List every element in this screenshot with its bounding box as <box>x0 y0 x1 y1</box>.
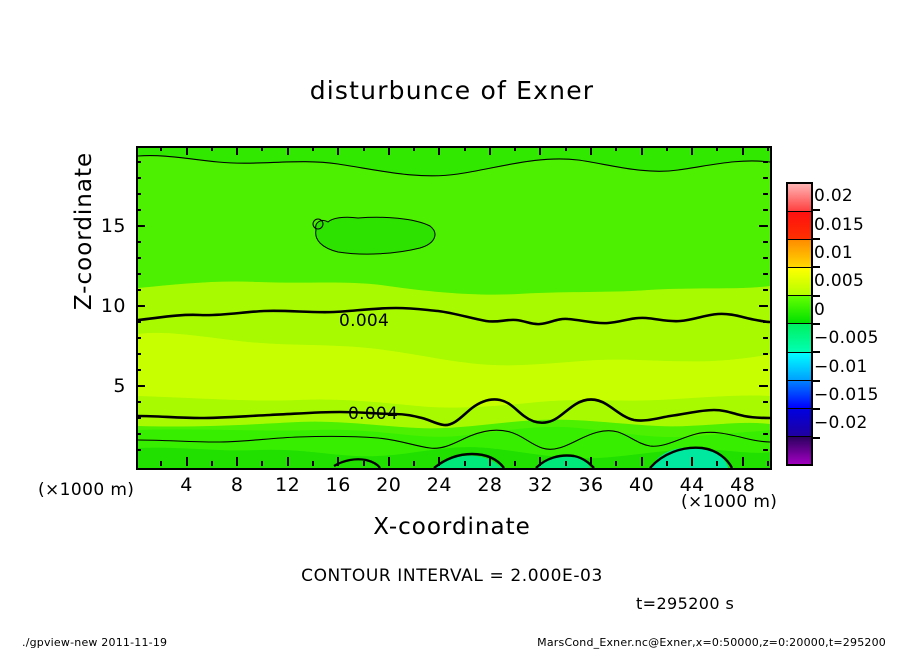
contour-label-upper: 0.004 <box>337 311 391 331</box>
colorbar-tick <box>813 437 820 439</box>
y-tick-minor <box>136 369 141 371</box>
x-tick-major-top <box>742 146 744 155</box>
y-tick-major <box>136 225 145 227</box>
y-tick-minor-right <box>763 273 768 275</box>
y-tick-minor <box>136 273 141 275</box>
y-tick-minor <box>136 433 141 435</box>
x-tick-label: 4 <box>180 474 193 496</box>
x-tick-major <box>691 457 693 466</box>
contour-field <box>138 148 770 468</box>
y-tick-minor-right <box>763 193 768 195</box>
colorbar-tick-label: 0.01 <box>814 243 853 263</box>
x-tick-minor-top <box>160 146 162 151</box>
colorbar-band <box>788 268 811 296</box>
x-tick-major <box>337 457 339 466</box>
colorbar-band <box>788 324 811 352</box>
colorbar-tick <box>813 380 820 382</box>
x-tick-major <box>236 457 238 466</box>
colorbar-tick <box>813 238 820 240</box>
x-tick-major-top <box>337 146 339 155</box>
colorbar-tick-label: 0.015 <box>814 215 864 235</box>
x-tick-minor <box>413 461 415 466</box>
y-tick-minor <box>136 449 141 451</box>
footer-source: MarsCond_Exner.nc@Exner,x=0:50000,z=0:20… <box>537 636 886 649</box>
y-tick-major-right <box>759 305 768 307</box>
x-tick-label: 20 <box>376 474 401 496</box>
y-tick-minor <box>136 337 141 339</box>
x-tick-minor <box>565 461 567 466</box>
x-tick-major <box>388 457 390 466</box>
contour-interval-note: CONTOUR INTERVAL = 2.000E-03 <box>0 566 904 586</box>
x-tick-minor <box>666 461 668 466</box>
x-tick-minor-top <box>261 146 263 151</box>
y-tick-major-right <box>759 225 768 227</box>
x-axis-title: X-coordinate <box>0 514 904 540</box>
colorbar-band <box>788 240 811 268</box>
footer-command: ./gpview-new 2011-11-19 <box>22 636 167 649</box>
x-tick-major <box>590 457 592 466</box>
x-axis-unit-right: (×1000 m) <box>681 492 777 512</box>
x-tick-minor <box>514 461 516 466</box>
x-tick-minor <box>312 461 314 466</box>
y-tick-minor-right <box>763 257 768 259</box>
x-tick-minor <box>211 461 213 466</box>
x-tick-major <box>641 457 643 466</box>
y-tick-minor-right <box>763 337 768 339</box>
x-tick-minor <box>615 461 617 466</box>
x-tick-minor <box>160 461 162 466</box>
x-tick-minor-top <box>767 146 769 151</box>
x-tick-minor-top <box>413 146 415 151</box>
x-tick-minor-top <box>363 146 365 151</box>
x-tick-major-top <box>641 146 643 155</box>
y-tick-minor-right <box>763 241 768 243</box>
x-tick-label: 12 <box>275 474 300 496</box>
y-tick-minor-right <box>763 417 768 419</box>
x-tick-label: 36 <box>578 474 603 496</box>
x-tick-major-top <box>590 146 592 155</box>
colorbar-tick <box>813 351 820 353</box>
x-tick-major <box>186 457 188 466</box>
colorbar-band <box>788 353 811 381</box>
colorbar-band <box>788 212 811 240</box>
colorbar-band <box>788 184 811 212</box>
colorbar-band <box>788 437 811 464</box>
colorbar-tick-label: 0.005 <box>814 271 864 291</box>
x-tick-minor <box>363 461 365 466</box>
y-axis-title: Z-coordinate <box>71 131 97 331</box>
y-tick-minor-right <box>763 177 768 179</box>
x-tick-label: 32 <box>528 474 553 496</box>
y-tick-label: 5 <box>74 375 126 397</box>
y-tick-minor-right <box>763 209 768 211</box>
y-tick-minor-right <box>763 401 768 403</box>
x-tick-label: 40 <box>629 474 654 496</box>
contour-label-lower: 0.004 <box>346 404 400 424</box>
x-tick-major-top <box>287 146 289 155</box>
x-tick-major-top <box>539 146 541 155</box>
contour-plot-area[interactable]: 0.004 0.004 <box>136 146 772 470</box>
x-tick-label: 28 <box>477 474 502 496</box>
x-tick-minor <box>261 461 263 466</box>
x-tick-minor <box>716 461 718 466</box>
x-tick-minor-top <box>211 146 213 151</box>
x-tick-major-top <box>186 146 188 155</box>
x-tick-major-top <box>388 146 390 155</box>
y-tick-minor <box>136 177 141 179</box>
x-tick-minor-top <box>312 146 314 151</box>
colorbar-tick-label: −0.01 <box>814 357 868 377</box>
y-tick-minor-right <box>763 449 768 451</box>
x-axis-unit-left: (×1000 m) <box>38 480 134 500</box>
x-tick-minor-top <box>716 146 718 151</box>
colorbar-band <box>788 381 811 409</box>
page-title: disturbunce of Exner <box>0 76 904 105</box>
colorbar-tick <box>813 408 820 410</box>
y-tick-minor <box>136 321 141 323</box>
y-tick-minor-right <box>763 321 768 323</box>
x-tick-label: 24 <box>427 474 452 496</box>
y-tick-minor-right <box>763 433 768 435</box>
y-tick-major <box>136 385 145 387</box>
y-tick-minor <box>136 257 141 259</box>
colorbar[interactable] <box>786 182 813 466</box>
colorbar-tick-label: −0.005 <box>814 328 879 348</box>
y-tick-minor <box>136 417 141 419</box>
y-tick-minor <box>136 353 141 355</box>
x-tick-minor <box>767 461 769 466</box>
x-tick-major-top <box>438 146 440 155</box>
y-tick-minor-right <box>763 289 768 291</box>
time-stamp: t=295200 s <box>636 594 734 613</box>
x-tick-minor <box>464 461 466 466</box>
x-tick-minor-top <box>615 146 617 151</box>
x-tick-label: 8 <box>231 474 244 496</box>
y-tick-minor-right <box>763 369 768 371</box>
y-tick-major <box>136 305 145 307</box>
y-tick-minor <box>136 241 141 243</box>
x-tick-minor-top <box>464 146 466 151</box>
colorbar-tick <box>813 209 820 211</box>
x-tick-minor-top <box>666 146 668 151</box>
y-tick-minor-right <box>763 353 768 355</box>
y-tick-major-right <box>759 385 768 387</box>
x-tick-major <box>489 457 491 466</box>
x-tick-major-top <box>489 146 491 155</box>
x-tick-major <box>287 457 289 466</box>
x-tick-minor-top <box>514 146 516 151</box>
y-tick-minor <box>136 209 141 211</box>
x-tick-major <box>539 457 541 466</box>
colorbar-band <box>788 296 811 324</box>
colorbar-tick-label: 0.02 <box>814 186 853 206</box>
colorbar-tick <box>813 323 820 325</box>
x-tick-major-top <box>236 146 238 155</box>
colorbar-tick <box>813 295 820 297</box>
colorbar-tick-label: −0.02 <box>814 413 868 433</box>
x-tick-minor-top <box>565 146 567 151</box>
y-tick-minor <box>136 289 141 291</box>
x-tick-major <box>742 457 744 466</box>
x-tick-major <box>438 457 440 466</box>
figure-canvas: disturbunce of Exner <box>0 0 904 654</box>
y-tick-minor <box>136 193 141 195</box>
colorbar-tick-label: −0.015 <box>814 385 879 405</box>
y-tick-minor <box>136 161 141 163</box>
colorbar-band <box>788 409 811 437</box>
y-tick-minor-right <box>763 161 768 163</box>
colorbar-tick <box>813 266 820 268</box>
colorbar-tick-label: 0 <box>814 300 825 320</box>
x-tick-major-top <box>691 146 693 155</box>
y-tick-minor <box>136 401 141 403</box>
x-tick-label: 16 <box>326 474 351 496</box>
